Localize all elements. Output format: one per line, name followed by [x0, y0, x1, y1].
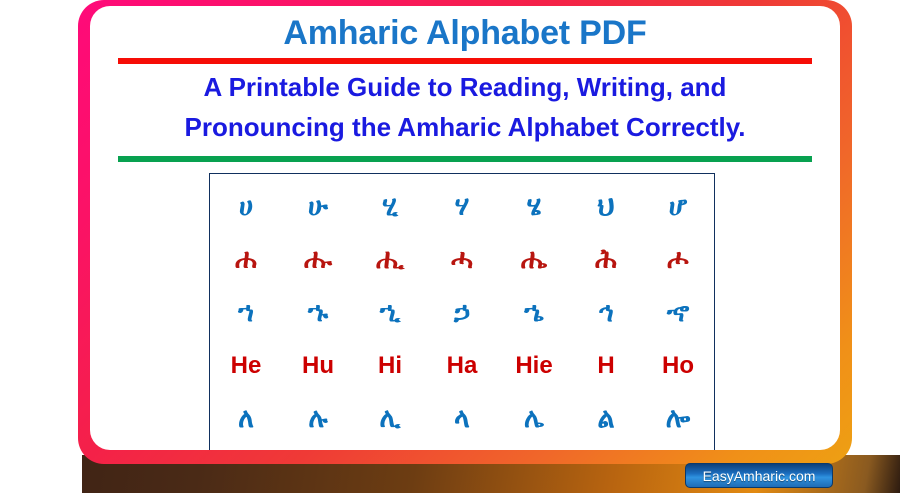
fidel-cell: ለ [210, 405, 282, 432]
table-row: ኀ ኁ ኂ ኃ ኄ ኅ ኆ [210, 286, 714, 339]
watermark-badge[interactable]: EasyAmharic.com [685, 463, 833, 488]
poster-subtitle-line-2: Pronouncing the Amharic Alphabet Correct… [100, 108, 830, 148]
fidel-cell: ላ [426, 405, 498, 432]
romanization-cell: Hie [498, 354, 570, 378]
romanization-cell: Hi [354, 354, 426, 378]
fidel-cell: ሂ [354, 193, 426, 220]
table-row-romanization: He Hu Hi Ha Hie H Ho [210, 339, 714, 392]
fidel-cell: ኁ [282, 299, 354, 326]
fidel-cell: ሉ [282, 405, 354, 432]
fidel-cell: ሀ [210, 193, 282, 220]
page-title: Amharic Alphabet PDF [90, 14, 840, 53]
fidel-cell: ኅ [570, 299, 642, 326]
poster-white-card: Amharic Alphabet PDF A Printable Guide t… [90, 6, 840, 450]
fidel-cell: ሎ [642, 405, 714, 432]
romanization-cell: Ha [426, 354, 498, 378]
romanization-cell: Ho [642, 354, 714, 378]
fidel-cell: ሃ [426, 193, 498, 220]
poster-subtitle-line-1: A Printable Guide to Reading, Writing, a… [100, 68, 830, 108]
fidel-cell: ል [570, 405, 642, 432]
amharic-alphabet-table: ሀ ሁ ሂ ሃ ሄ ህ ሆ ሐ ሑ ሒ ሓ ሔ ሕ ሖ ኀ ኁ ኂ [209, 173, 715, 450]
table-row: ለ ሉ ሊ ላ ሌ ል ሎ [210, 392, 714, 445]
fidel-cell: ሌ [498, 405, 570, 432]
fidel-cell: ሊ [354, 405, 426, 432]
table-row: ሀ ሁ ሂ ሃ ሄ ህ ሆ [210, 180, 714, 233]
divider-green [118, 156, 812, 162]
fidel-cell: ሐ [210, 246, 282, 273]
fidel-cell: ሖ [642, 246, 714, 273]
fidel-cell: ኄ [498, 299, 570, 326]
romanization-cell: Hu [282, 354, 354, 378]
fidel-cell: ኆ [642, 299, 714, 326]
fidel-cell: ሄ [498, 193, 570, 220]
fidel-cell: ሑ [282, 246, 354, 273]
fidel-cell: ሓ [426, 246, 498, 273]
fidel-cell: ሒ [354, 246, 426, 273]
fidel-cell: ሕ [570, 246, 642, 273]
romanization-cell: He [210, 354, 282, 378]
divider-red [118, 58, 812, 64]
romanization-cell: H [570, 354, 642, 378]
fidel-cell: ኂ [354, 299, 426, 326]
poster-subtitle: A Printable Guide to Reading, Writing, a… [100, 68, 830, 147]
fidel-cell: ሔ [498, 246, 570, 273]
fidel-cell: ህ [570, 193, 642, 220]
fidel-cell: ኀ [210, 299, 282, 326]
table-row: ሐ ሑ ሒ ሓ ሔ ሕ ሖ [210, 233, 714, 286]
bottom-strip-left-mask [0, 455, 82, 493]
fidel-cell: ሁ [282, 193, 354, 220]
fidel-cell: ኃ [426, 299, 498, 326]
poster-gradient-frame: Amharic Alphabet PDF A Printable Guide t… [78, 0, 852, 464]
fidel-cell: ሆ [642, 193, 714, 220]
